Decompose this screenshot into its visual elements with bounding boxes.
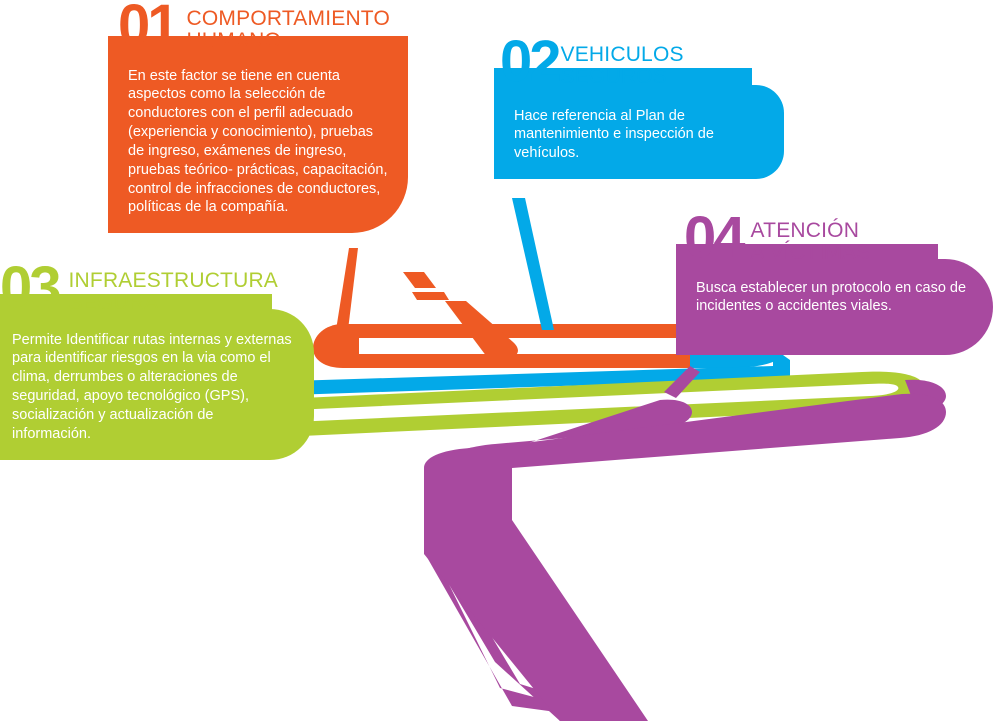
factor-card-04[interactable]: 04 ATENCIÓN A VÍCTIMAS Busca establecer … [676, 214, 993, 355]
road-segment-orange [313, 324, 690, 368]
road-dash-orange-2 [412, 292, 449, 300]
road-segment-purple [424, 380, 946, 721]
road-wedge-purple [424, 455, 640, 721]
road-stem-blue [512, 198, 554, 330]
card-03-body: Permite Identificar rutas internas y ext… [0, 309, 314, 460]
factor-card-01[interactable]: 01 COMPORTAMIENTO HUMANO En este factor … [108, 2, 408, 233]
road-body-purple [424, 394, 946, 721]
factor-card-03[interactable]: 03 INFRAESTRUCTURA SEGURA Permite Identi… [0, 264, 314, 460]
road-descent-purple [432, 400, 692, 721]
card-01-number: 01 [118, 2, 177, 50]
card-04-header: 04 ATENCIÓN A VÍCTIMAS [684, 214, 993, 265]
factor-card-02[interactable]: 02 VEHICULOS SEGUROS Hace referencia al … [494, 38, 784, 179]
road-dash-orange-1 [403, 272, 436, 288]
card-04-number: 04 [684, 214, 743, 262]
card-03-header: 03 INFRAESTRUCTURA SEGURA [0, 264, 314, 315]
card-04-title: ATENCIÓN A VÍCTIMAS [751, 214, 871, 265]
card-02-number: 02 [500, 38, 559, 86]
card-02-header: 02 VEHICULOS SEGUROS [500, 38, 784, 89]
card-02-title: VEHICULOS SEGUROS [561, 38, 684, 89]
card-04-body: Busca establecer un protocolo en caso de… [676, 259, 993, 355]
card-01-header: 01 COMPORTAMIENTO HUMANO [118, 2, 408, 53]
road-stem-purple [664, 366, 700, 398]
road-stem-orange [336, 248, 358, 330]
card-03-number: 03 [0, 264, 59, 312]
infographic-root: 01 COMPORTAMIENTO HUMANO En este factor … [0, 0, 993, 721]
card-01-body: En este factor se tiene en cuenta aspect… [108, 47, 408, 234]
card-02-body: Hace referencia al Plan de mantenimiento… [494, 85, 784, 180]
card-03-title: INFRAESTRUCTURA SEGURA [69, 264, 279, 315]
road-notch-orange [359, 338, 690, 354]
road-vanish-orange [445, 301, 518, 357]
card-01-title: COMPORTAMIENTO HUMANO [187, 2, 390, 53]
